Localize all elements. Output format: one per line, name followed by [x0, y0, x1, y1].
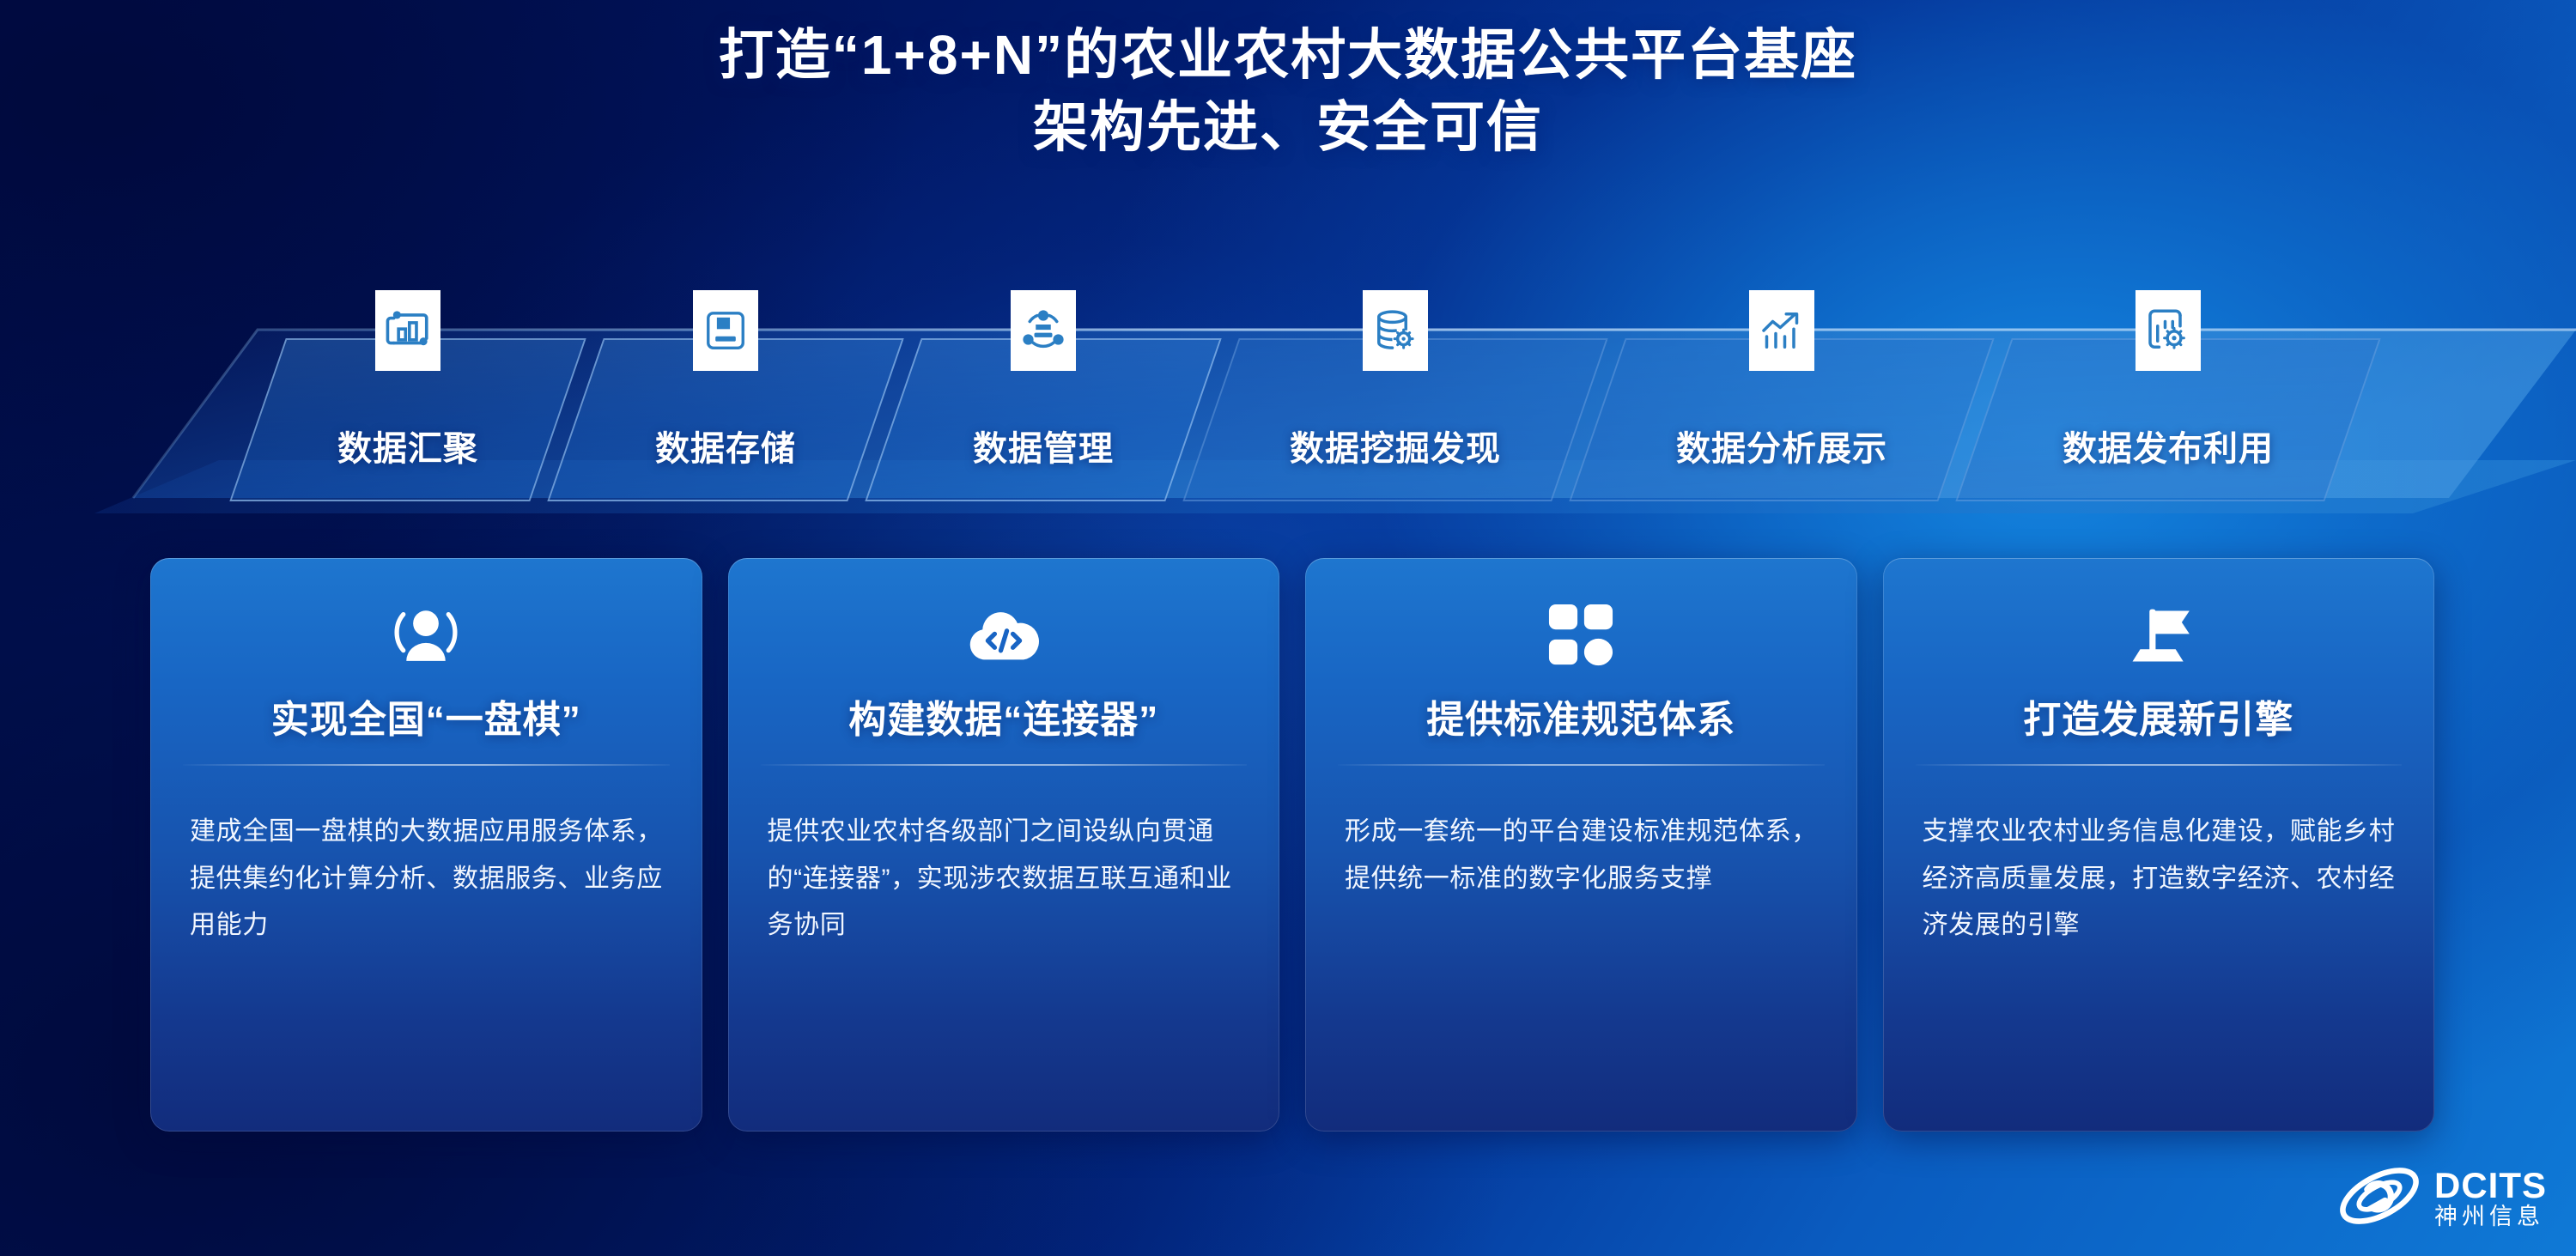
flag-icon: [1883, 599, 2435, 673]
platform-step-list: 数据汇聚 数据存储: [0, 316, 2576, 531]
platform-step-1[interactable]: 数据存储: [575, 338, 876, 501]
database-gear-icon: [1363, 290, 1428, 371]
platform-step-0[interactable]: 数据汇聚: [258, 338, 558, 501]
card-title: 提供标准规范体系: [1305, 689, 1857, 743]
logo-cn-text: 神州信息: [2434, 1205, 2547, 1229]
platform-step-3[interactable]: 数据挖掘发现: [1211, 338, 1580, 501]
benefit-card-2[interactable]: 提供标准规范体系 形成一套统一的平台建设标准规范体系，提供统一标准的数字化服务支…: [1305, 558, 1857, 1132]
card-body: 建成全国一盘棋的大数据应用服务体系，提供集约化计算分析、数据服务、业务应用能力: [190, 809, 668, 950]
company-logo: DCITS 神州信息: [2335, 1159, 2547, 1237]
platform-step-4[interactable]: 数据分析展示: [1597, 338, 1966, 501]
card-body: 提供农业农村各级部门之间设纵向贯通的“连接器”，实现涉农数据互联互通和业务协同: [768, 809, 1246, 950]
logo-en-text: DCITS: [2434, 1168, 2547, 1204]
title-line-2: 架构先进、安全可信: [0, 91, 2576, 163]
floppy-disk-icon: [693, 290, 758, 371]
title-line-1: 打造“1+8+N”的农业农村大数据公共平台基座: [0, 19, 2576, 91]
card-divider: [183, 764, 670, 766]
step-label: 数据汇聚: [258, 421, 558, 470]
card-title: 打造发展新引擎: [1883, 689, 2435, 743]
benefit-card-1[interactable]: 构建数据“连接器” 提供农业农村各级部门之间设纵向贯通的“连接器”，实现涉农数据…: [728, 558, 1280, 1132]
trend-chart-icon: [1749, 290, 1814, 371]
card-divider: [761, 764, 1248, 766]
benefit-card-3[interactable]: 打造发展新引擎 支撑农业农村业务信息化建设，赋能乡村经济高质量发展，打造数字经济…: [1883, 558, 2435, 1132]
card-divider: [1338, 764, 1825, 766]
card-divider: [1916, 764, 2403, 766]
step-label: 数据存储: [575, 421, 876, 470]
step-label: 数据分析展示: [1597, 421, 1966, 470]
step-label: 数据发布利用: [1984, 421, 2353, 470]
grid-blocks-icon: [1305, 599, 1857, 673]
benefit-card-list: 实现全国“一盘棋” 建成全国一盘棋的大数据应用服务体系，提供集约化计算分析、数据…: [150, 558, 2434, 1132]
platform-step-5[interactable]: 数据发布利用: [1984, 338, 2353, 501]
step-label: 数据管理: [893, 421, 1194, 470]
card-title: 实现全国“一盘棋”: [150, 689, 702, 743]
users-group-icon: [150, 599, 702, 673]
card-body: 形成一套统一的平台建设标准规范体系，提供统一标准的数字化服务支撑: [1345, 809, 1823, 902]
card-title: 构建数据“连接器”: [728, 689, 1280, 743]
step-label: 数据挖掘发现: [1211, 421, 1580, 470]
platform-step-2[interactable]: 数据管理: [893, 338, 1194, 501]
report-gear-icon: [2136, 290, 2201, 371]
slide-background: 打造“1+8+N”的农业农村大数据公共平台基座 架构先进、安全可信: [0, 0, 2576, 1256]
bar-chart-frame-icon: [375, 290, 440, 371]
cloud-code-icon: [728, 599, 1280, 673]
data-orchestration-icon: [1011, 290, 1076, 371]
dcits-swirl-icon: [2335, 1159, 2424, 1237]
card-body: 支撑农业农村业务信息化建设，赋能乡村经济高质量发展，打造数字经济、农村经济发展的…: [1923, 809, 2401, 950]
benefit-card-0[interactable]: 实现全国“一盘棋” 建成全国一盘棋的大数据应用服务体系，提供集约化计算分析、数据…: [150, 558, 702, 1132]
page-title: 打造“1+8+N”的农业农村大数据公共平台基座 架构先进、安全可信: [0, 19, 2576, 164]
